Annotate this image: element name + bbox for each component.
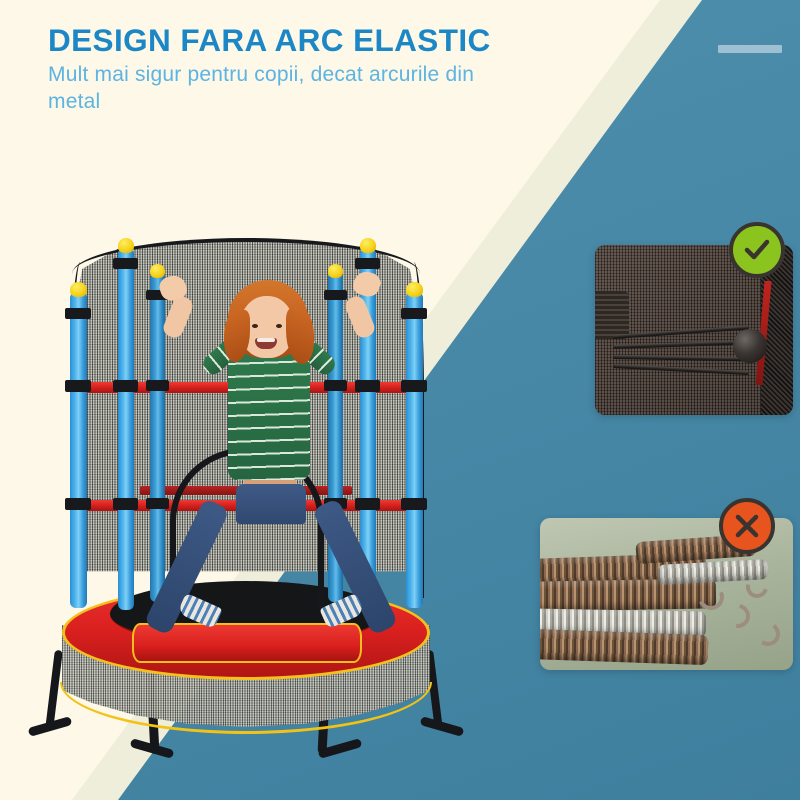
pole-clip	[65, 380, 91, 392]
child-shoe-right	[319, 593, 364, 629]
pole-clip	[65, 308, 91, 319]
x-icon	[733, 512, 761, 540]
check-icon	[742, 235, 772, 265]
rusty-spring	[540, 629, 708, 665]
pole-clip	[113, 380, 138, 392]
child-hand-right	[351, 269, 383, 300]
pole-clip	[355, 380, 380, 392]
pole-cap-icon	[360, 238, 376, 253]
page-title: DESIGN FARA ARC ELASTIC	[48, 22, 491, 59]
child-forearm-left	[161, 294, 195, 340]
child-eye-right	[276, 324, 282, 328]
pole-cap-icon	[118, 238, 134, 253]
child-jeans-hips	[236, 484, 306, 524]
pole-clip	[355, 258, 380, 269]
pole-clip	[113, 498, 138, 510]
pole-cap-icon	[406, 282, 423, 297]
page-subtitle: Mult mai sigur pentru copii, decat arcur…	[48, 62, 478, 116]
cord-ball-connector	[733, 329, 767, 363]
promo-canvas: DESIGN FARA ARC ELASTIC Mult mai sigur p…	[0, 0, 800, 800]
enclosure-pole-mid-left	[118, 248, 134, 610]
pole-clip	[355, 498, 380, 510]
pole-cap-icon	[70, 282, 87, 297]
decor-bar	[718, 45, 782, 53]
pole-clip	[401, 308, 427, 319]
child-mouth	[255, 338, 277, 349]
child-shoe-left	[177, 593, 222, 629]
pole-clip	[401, 498, 427, 510]
frame-leg-foot	[420, 716, 465, 737]
product-image	[20, 130, 490, 770]
enclosure-pole-front-left	[70, 292, 87, 608]
status-badge-bad	[719, 498, 775, 554]
rusty-spring	[540, 578, 716, 611]
fabric-seam	[595, 291, 629, 339]
status-badge-good	[729, 222, 785, 278]
pole-clip	[65, 498, 91, 510]
enclosure-pole-front-right	[406, 292, 423, 608]
child-eye-left	[252, 324, 258, 328]
pole-clip	[113, 258, 138, 269]
child-striped-shirt	[228, 350, 310, 480]
pole-clip	[401, 380, 427, 392]
